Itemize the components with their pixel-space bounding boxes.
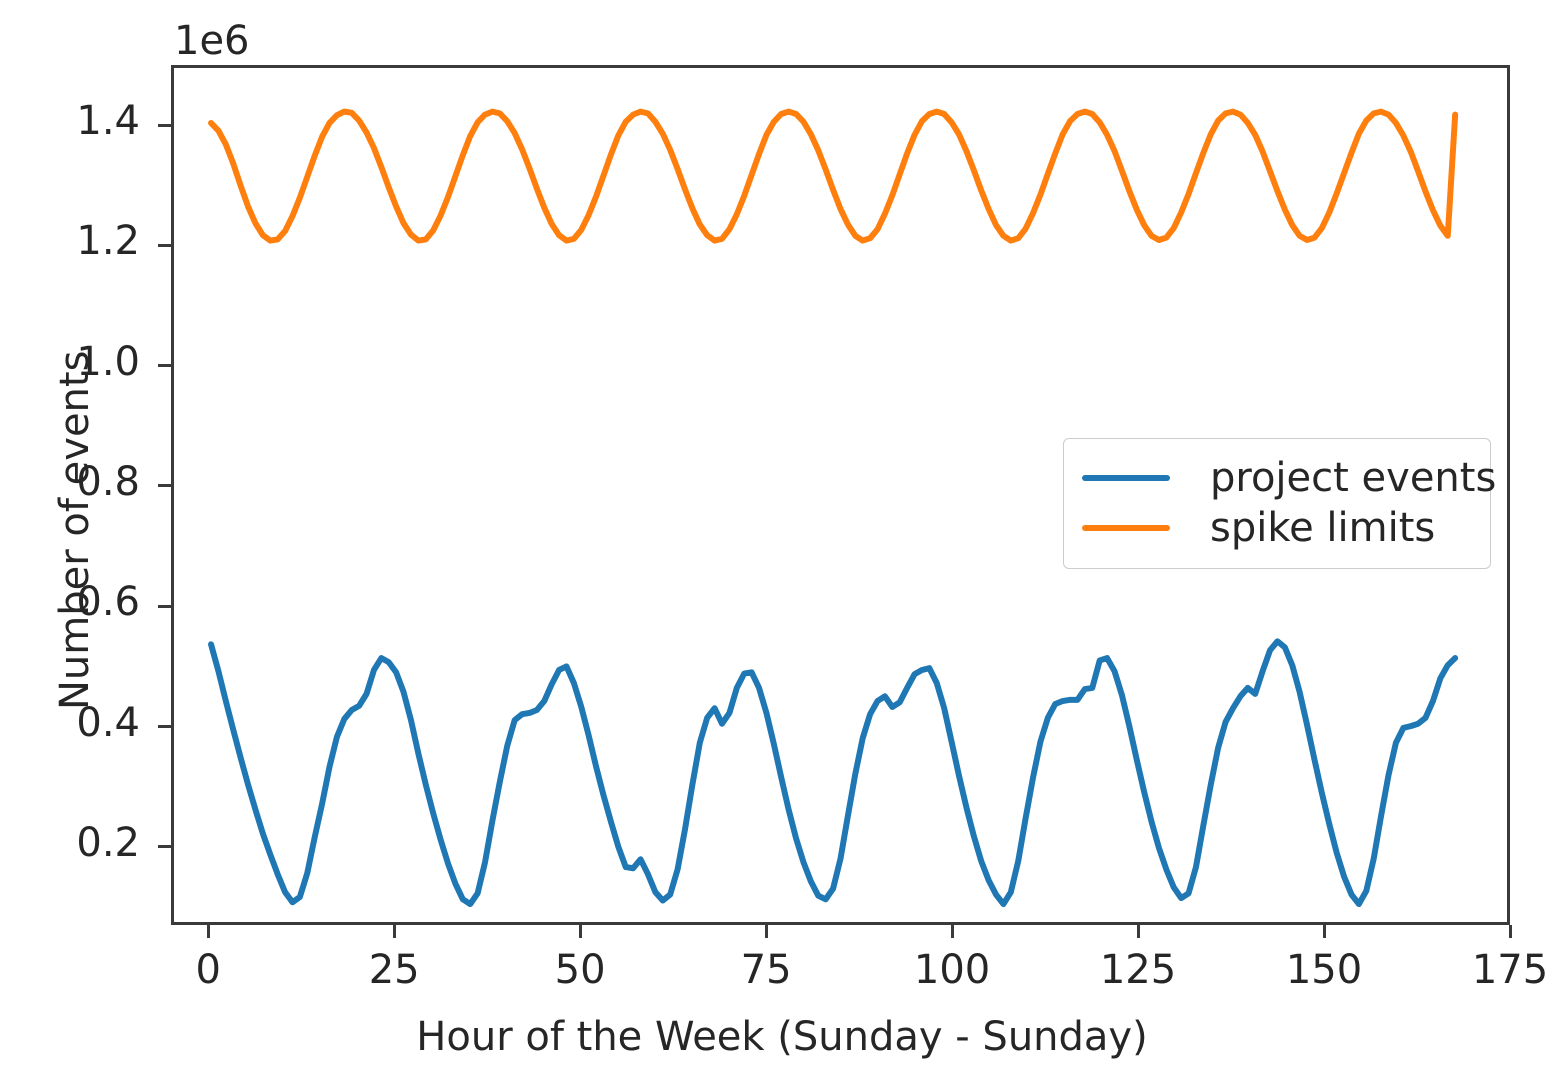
matplotlib-figure: 1e6 0.20.40.60.81.01.21.4 02550751001251…	[0, 0, 1564, 1080]
x-tick-label: 50	[500, 947, 660, 993]
legend-label-spike-limits: spike limits	[1210, 505, 1435, 551]
legend[interactable]: project events spike limits	[1063, 438, 1491, 569]
legend-swatch-spike-limits	[1082, 525, 1170, 531]
x-tick-mark	[1323, 925, 1326, 938]
x-tick-label: 25	[314, 947, 474, 993]
x-axis-label: Hour of the Week (Sunday - Sunday)	[0, 1014, 1564, 1060]
x-tick-label: 100	[872, 947, 1032, 993]
x-tick-label: 0	[128, 947, 288, 993]
x-tick-label: 125	[1058, 947, 1218, 993]
x-tick-label: 150	[1244, 947, 1404, 993]
y-axis-label: Number of events	[52, 351, 98, 710]
x-tick-mark	[393, 925, 396, 938]
legend-item-project-events[interactable]: project events	[1082, 453, 1472, 503]
line-project-events	[211, 641, 1455, 904]
y-tick-mark	[158, 725, 171, 728]
y-tick-mark	[158, 605, 171, 608]
y-tick-label: 0.2	[0, 820, 140, 866]
legend-label-project-events: project events	[1210, 455, 1496, 501]
line-spike-limits	[211, 112, 1455, 241]
y-tick-label: 1.2	[0, 218, 140, 264]
legend-item-spike-limits[interactable]: spike limits	[1082, 503, 1472, 553]
y-tick-mark	[158, 244, 171, 247]
x-tick-mark	[951, 925, 954, 938]
y-axis-offset-label: 1e6	[174, 18, 250, 64]
y-tick-mark	[158, 124, 171, 127]
x-tick-mark	[207, 925, 210, 938]
x-tick-mark	[1509, 925, 1512, 938]
x-tick-label: 175	[1430, 947, 1564, 993]
x-tick-mark	[765, 925, 768, 938]
y-tick-mark	[158, 484, 171, 487]
legend-swatch-project-events	[1082, 475, 1170, 481]
y-tick-label: 1.4	[0, 98, 140, 144]
x-tick-mark	[1137, 925, 1140, 938]
x-tick-mark	[579, 925, 582, 938]
y-tick-mark	[158, 364, 171, 367]
y-tick-mark	[158, 845, 171, 848]
x-tick-label: 75	[686, 947, 846, 993]
